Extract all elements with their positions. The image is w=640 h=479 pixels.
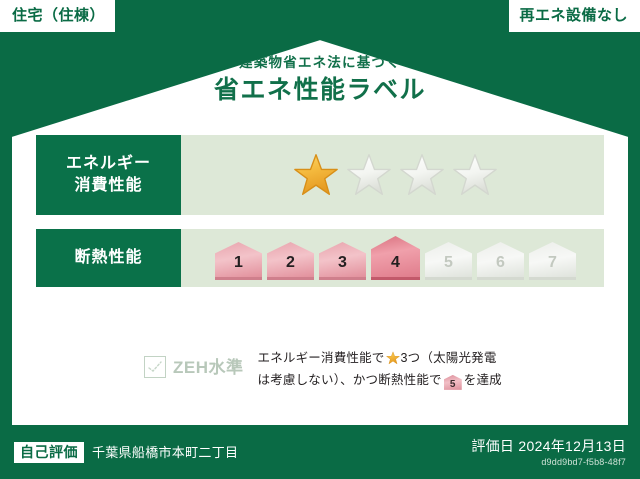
footer-right: 評価日 2024年12月13日 d9dd9bd7-f5b8-48f7 xyxy=(471,438,626,467)
zeh-badge: ZEH水準 xyxy=(144,342,244,378)
insulation-performance-row: 断熱性能 1234567 xyxy=(36,229,604,287)
zeh-check-icon xyxy=(144,356,166,378)
insulation-badge-6: 6 xyxy=(477,242,524,280)
label-footer: 自己評価 千葉県船橋市本町二丁目 評価日 2024年12月13日 d9dd9bd… xyxy=(0,429,640,479)
evaluation-type-badge: 自己評価 xyxy=(14,442,84,463)
energy-label-line2: 消費性能 xyxy=(74,175,142,197)
zeh-section: ZEH水準 エネルギー消費性能で3つ（太陽光発電 は考慮しない）、かつ断熱性能で… xyxy=(36,342,604,392)
zeh-label: ZEH水準 xyxy=(173,359,244,376)
insulation-badge-1: 1 xyxy=(215,242,262,280)
insulation-performance-label-box: 断熱性能 xyxy=(36,229,181,287)
energy-performance-value xyxy=(181,135,604,215)
zeh-desc-part2: 3つ（太陽光発電 xyxy=(401,351,497,365)
zeh-inline-badge: 5 xyxy=(444,375,462,390)
performance-rows: エネルギー 消費性能 断熱性能 1234567 xyxy=(36,135,604,301)
energy-performance-label: 住宅（住棟） 再エネ設備なし 建築物省エネ法に基づく 省エネ性能ラベル エネルギ… xyxy=(0,0,640,479)
zeh-description: エネルギー消費性能で3つ（太陽光発電 は考慮しない）、かつ断熱性能で5を達成 xyxy=(258,342,502,392)
zeh-desc-part3: は考慮しない）、かつ断熱性能で xyxy=(258,373,442,387)
title-subtitle: 建築物省エネ法に基づく xyxy=(12,56,628,70)
property-address: 千葉県船橋市本町二丁目 xyxy=(92,446,238,459)
footer-left: 自己評価 千葉県船橋市本町二丁目 xyxy=(14,442,238,463)
star-rating xyxy=(293,152,498,198)
star-icon xyxy=(386,351,400,365)
insulation-badge-4: 4 xyxy=(371,236,420,280)
title-block: 建築物省エネ法に基づく 省エネ性能ラベル xyxy=(12,56,628,103)
energy-performance-row: エネルギー 消費性能 xyxy=(36,135,604,215)
star-icon xyxy=(293,152,339,198)
evaluation-id: d9dd9bd7-f5b8-48f7 xyxy=(471,458,626,467)
insulation-badge-2: 2 xyxy=(267,242,314,280)
energy-label-line1: エネルギー xyxy=(66,153,151,175)
insulation-badge-3: 3 xyxy=(319,242,366,280)
label-card: 建築物省エネ法に基づく 省エネ性能ラベル エネルギー 消費性能 断熱性能 xyxy=(12,22,628,425)
energy-performance-label-box: エネルギー 消費性能 xyxy=(36,135,181,215)
evaluation-date: 評価日 2024年12月13日 xyxy=(471,438,626,455)
insulation-badge-scale: 1234567 xyxy=(215,236,576,280)
star-icon xyxy=(399,152,445,198)
renewable-equipment-tag: 再エネ設備なし xyxy=(509,0,640,32)
zeh-desc-part4: を達成 xyxy=(464,373,502,387)
insulation-label-line1: 断熱性能 xyxy=(74,247,142,269)
insulation-badge-5: 5 xyxy=(425,242,472,280)
star-icon xyxy=(346,152,392,198)
insulation-badge-7: 7 xyxy=(529,242,576,280)
building-type-tag: 住宅（住棟） xyxy=(0,0,115,32)
zeh-desc-part1: エネルギー消費性能で xyxy=(258,351,385,365)
star-icon xyxy=(452,152,498,198)
insulation-performance-value: 1234567 xyxy=(181,229,604,287)
page-title: 省エネ性能ラベル xyxy=(12,78,628,103)
